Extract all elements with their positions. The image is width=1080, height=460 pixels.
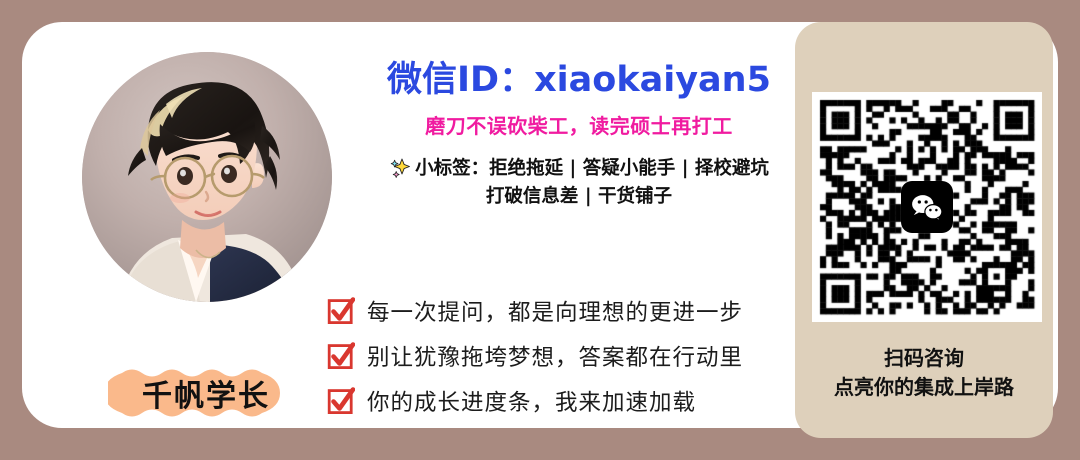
qr-code[interactable] bbox=[812, 92, 1042, 322]
qr-caption: 扫码咨询 点亮你的集成上岸路 bbox=[795, 344, 1053, 402]
list-item-label: 你的成长进度条，我来加速加载 bbox=[367, 385, 696, 417]
wechat-id-heading: 微信ID：xiaokaiyan5 bbox=[334, 60, 824, 100]
slogan-text: 磨刀不误砍柴工，读完硕士再打工 bbox=[334, 114, 824, 138]
name-badge: 千帆学长 bbox=[108, 367, 304, 419]
list-item: 别让犹豫拖垮梦想，答案都在行动里 bbox=[327, 333, 827, 378]
list-item: 你的成长进度条，我来加速加载 bbox=[327, 378, 827, 423]
wechat-logo-icon bbox=[901, 181, 953, 233]
qr-caption-line-1: 扫码咨询 bbox=[795, 344, 1053, 373]
tags-line-1-text: 小标签：拒绝拖延 | 答疑小能手 | 择校避坑 bbox=[415, 155, 769, 183]
checked-checkbox-icon bbox=[327, 297, 355, 325]
list-item-label: 每一次提问，都是向理想的更进一步 bbox=[367, 295, 743, 327]
checked-checkbox-icon bbox=[327, 387, 355, 415]
tags-line-2: 打破信息差 | 干货铺子 bbox=[334, 183, 824, 211]
sparkles-icon bbox=[389, 157, 413, 181]
tags-block: 小标签：拒绝拖延 | 答疑小能手 | 择校避坑 打破信息差 | 干货铺子 bbox=[334, 155, 824, 211]
anime-avatar-illustration bbox=[82, 52, 332, 302]
avatar bbox=[82, 52, 332, 302]
avatar-circle bbox=[82, 52, 332, 302]
badge-label: 千帆学长 bbox=[108, 367, 304, 419]
center-content: 微信ID：xiaokaiyan5 磨刀不误砍柴工，读完硕士再打工 小标签：拒绝拖… bbox=[334, 60, 824, 211]
checklist: 每一次提问，都是向理想的更进一步 别让犹豫拖垮梦想，答案都在行动里 bbox=[327, 288, 827, 423]
promo-card-frame: 千帆学长 微信ID：xiaokaiyan5 磨刀不误砍柴工，读完硕士再打工 小标… bbox=[0, 0, 1080, 460]
tags-line-1: 小标签：拒绝拖延 | 答疑小能手 | 择校避坑 bbox=[334, 155, 824, 183]
list-item-label: 别让犹豫拖垮梦想，答案都在行动里 bbox=[367, 340, 743, 372]
list-item: 每一次提问，都是向理想的更进一步 bbox=[327, 288, 827, 333]
checked-checkbox-icon bbox=[327, 342, 355, 370]
qr-caption-line-2: 点亮你的集成上岸路 bbox=[795, 373, 1053, 402]
qr-panel: 扫码咨询 点亮你的集成上岸路 bbox=[795, 22, 1053, 438]
